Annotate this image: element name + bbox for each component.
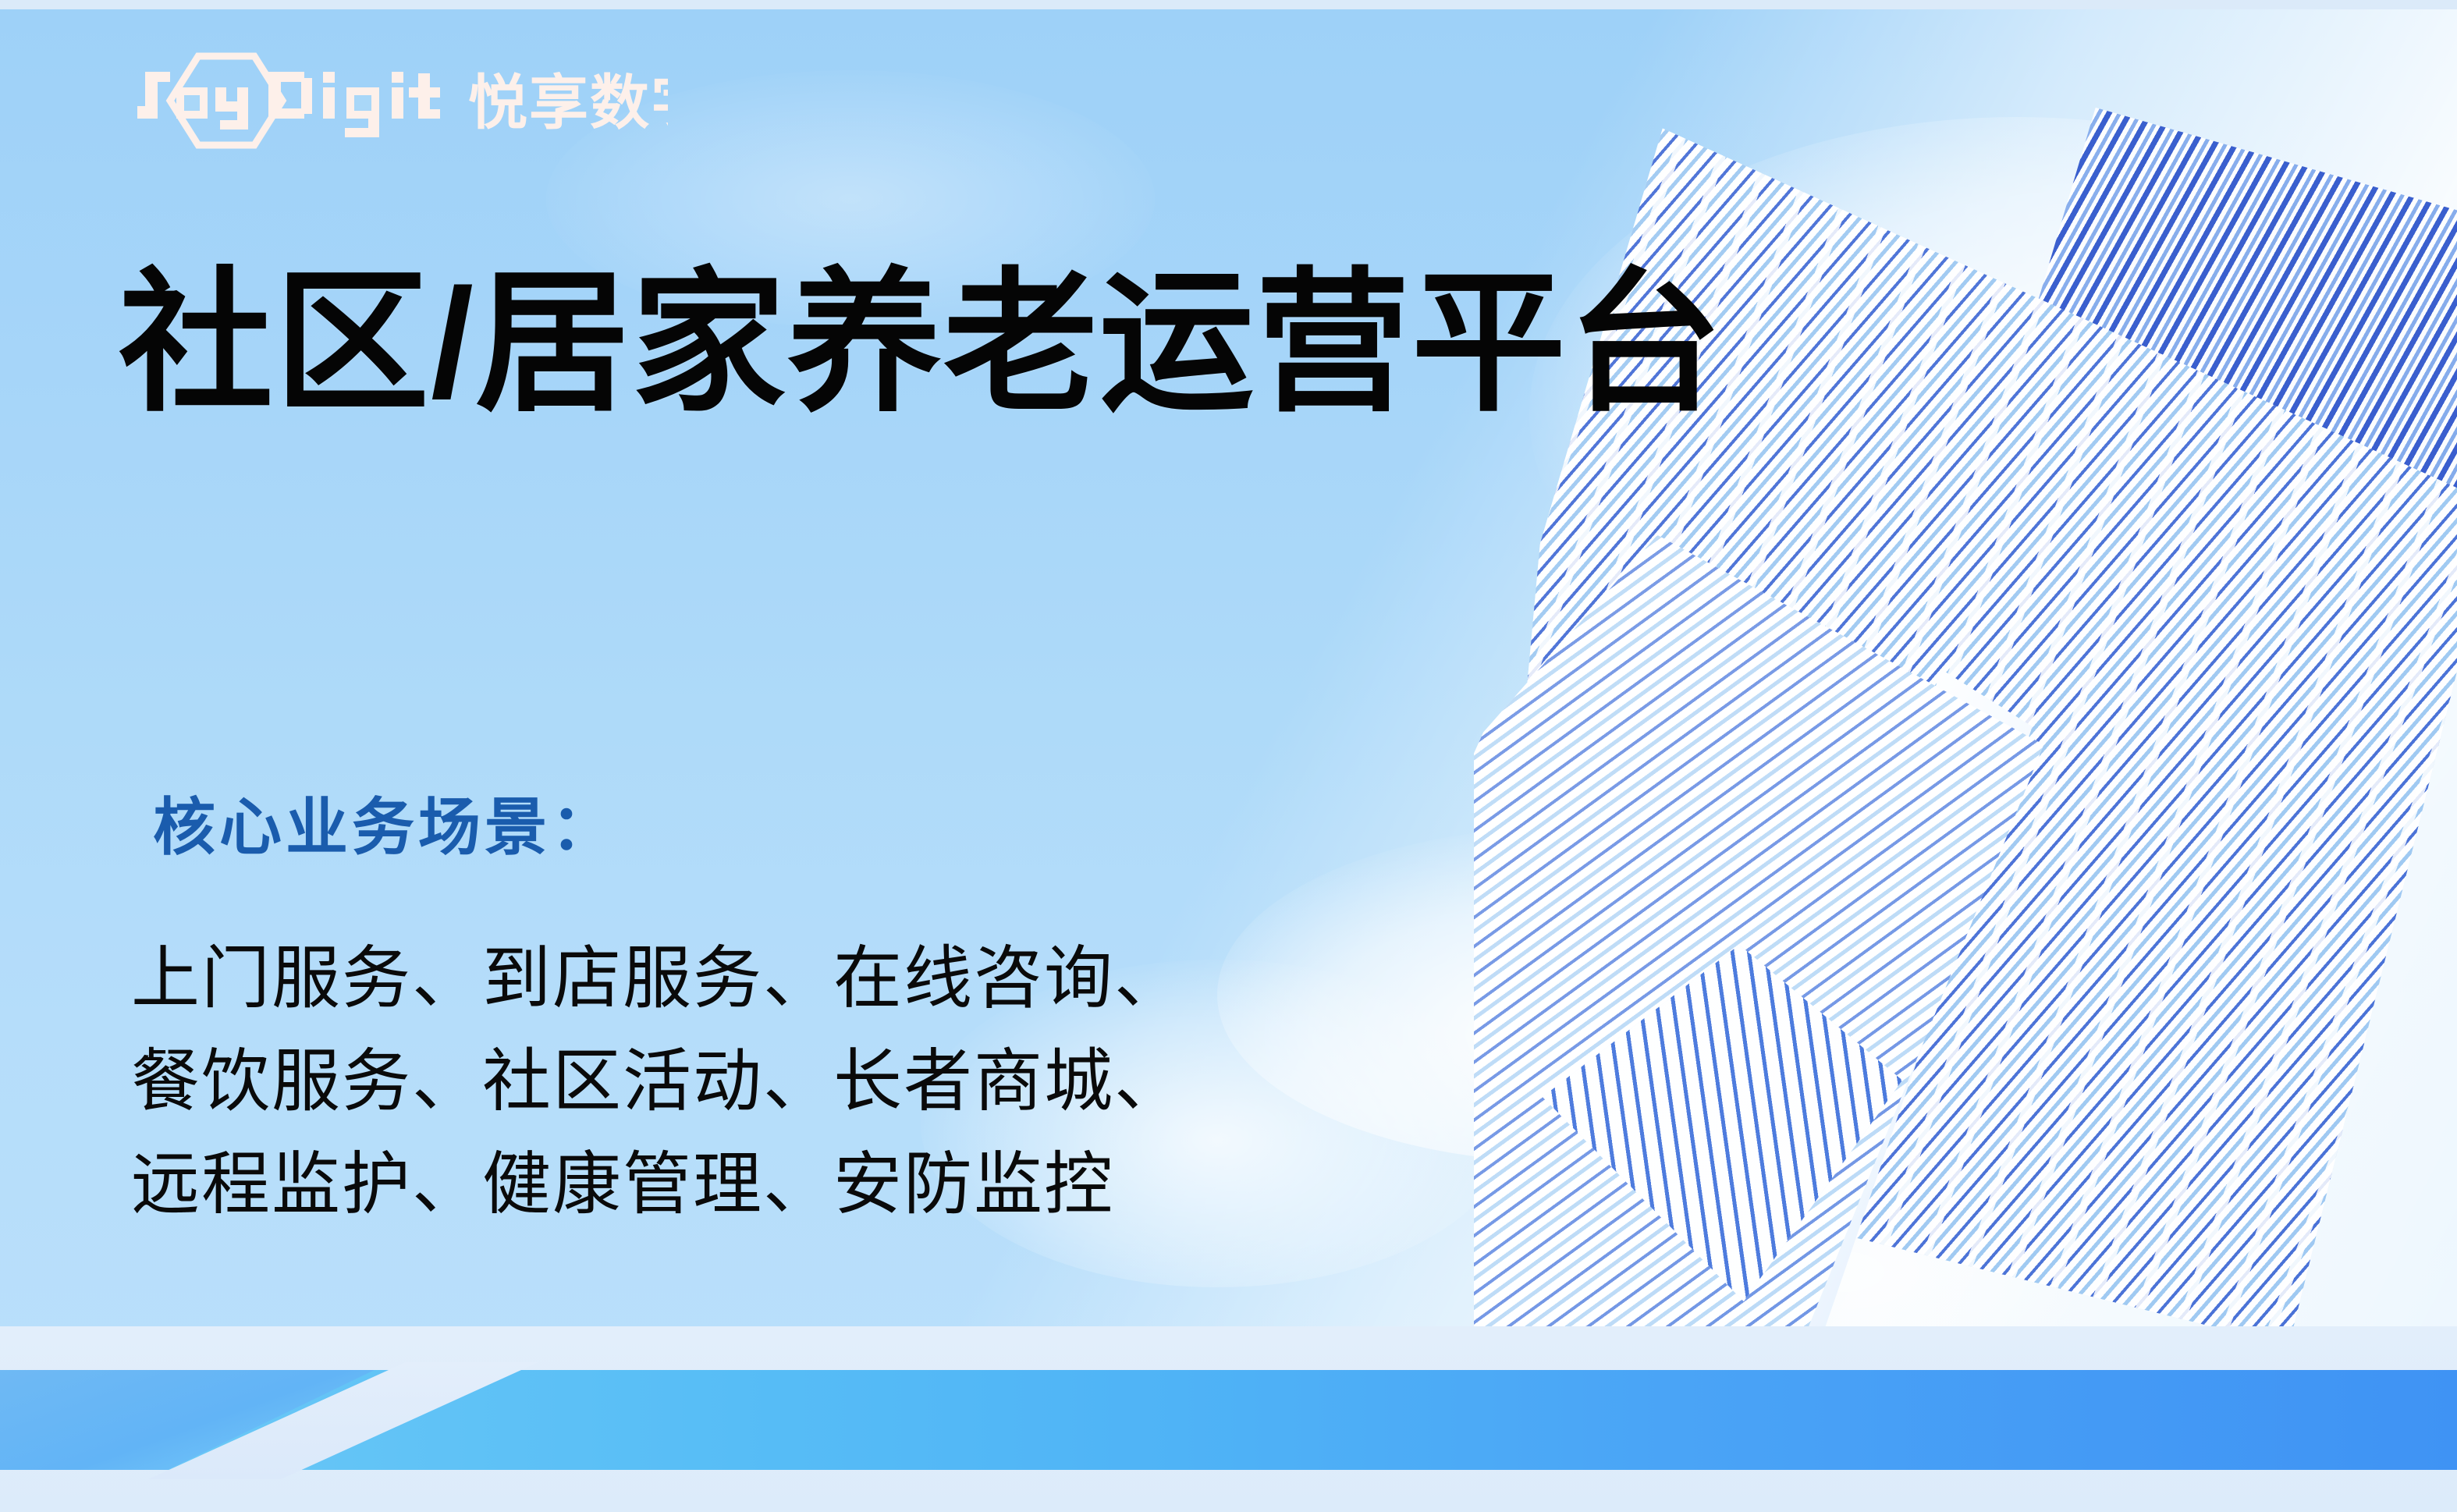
scene-list: 上门服务、到店服务、在线咨询、 餐饮服务、社区活动、长者商城、 远程监护、健康管… (131, 927, 1184, 1236)
slide-root: 悦享数字 社区/居家养老运营平台 核心业务场景： 上门服务、到店服务、在线咨询、… (0, 0, 2457, 1512)
skyscraper-photo (1474, 9, 2457, 1373)
svg-text:悦享数字: 悦享数字 (468, 68, 668, 137)
brand-logo[interactable]: 悦享数字 (137, 51, 668, 150)
brand-cn-name: 悦享数字 (468, 68, 668, 137)
top-edge-strip (0, 0, 2457, 9)
page-title: 社区/居家养老运营平台 (119, 262, 1724, 424)
section-eyebrow: 核心业务场景： (153, 777, 617, 868)
scene-line: 远程监护、健康管理、安防监控 (131, 1133, 1184, 1236)
scene-line: 餐饮服务、社区活动、长者商城、 (131, 1030, 1184, 1133)
footer-banner (0, 1326, 2457, 1512)
scene-line: 上门服务、到店服务、在线咨询、 (131, 927, 1184, 1030)
